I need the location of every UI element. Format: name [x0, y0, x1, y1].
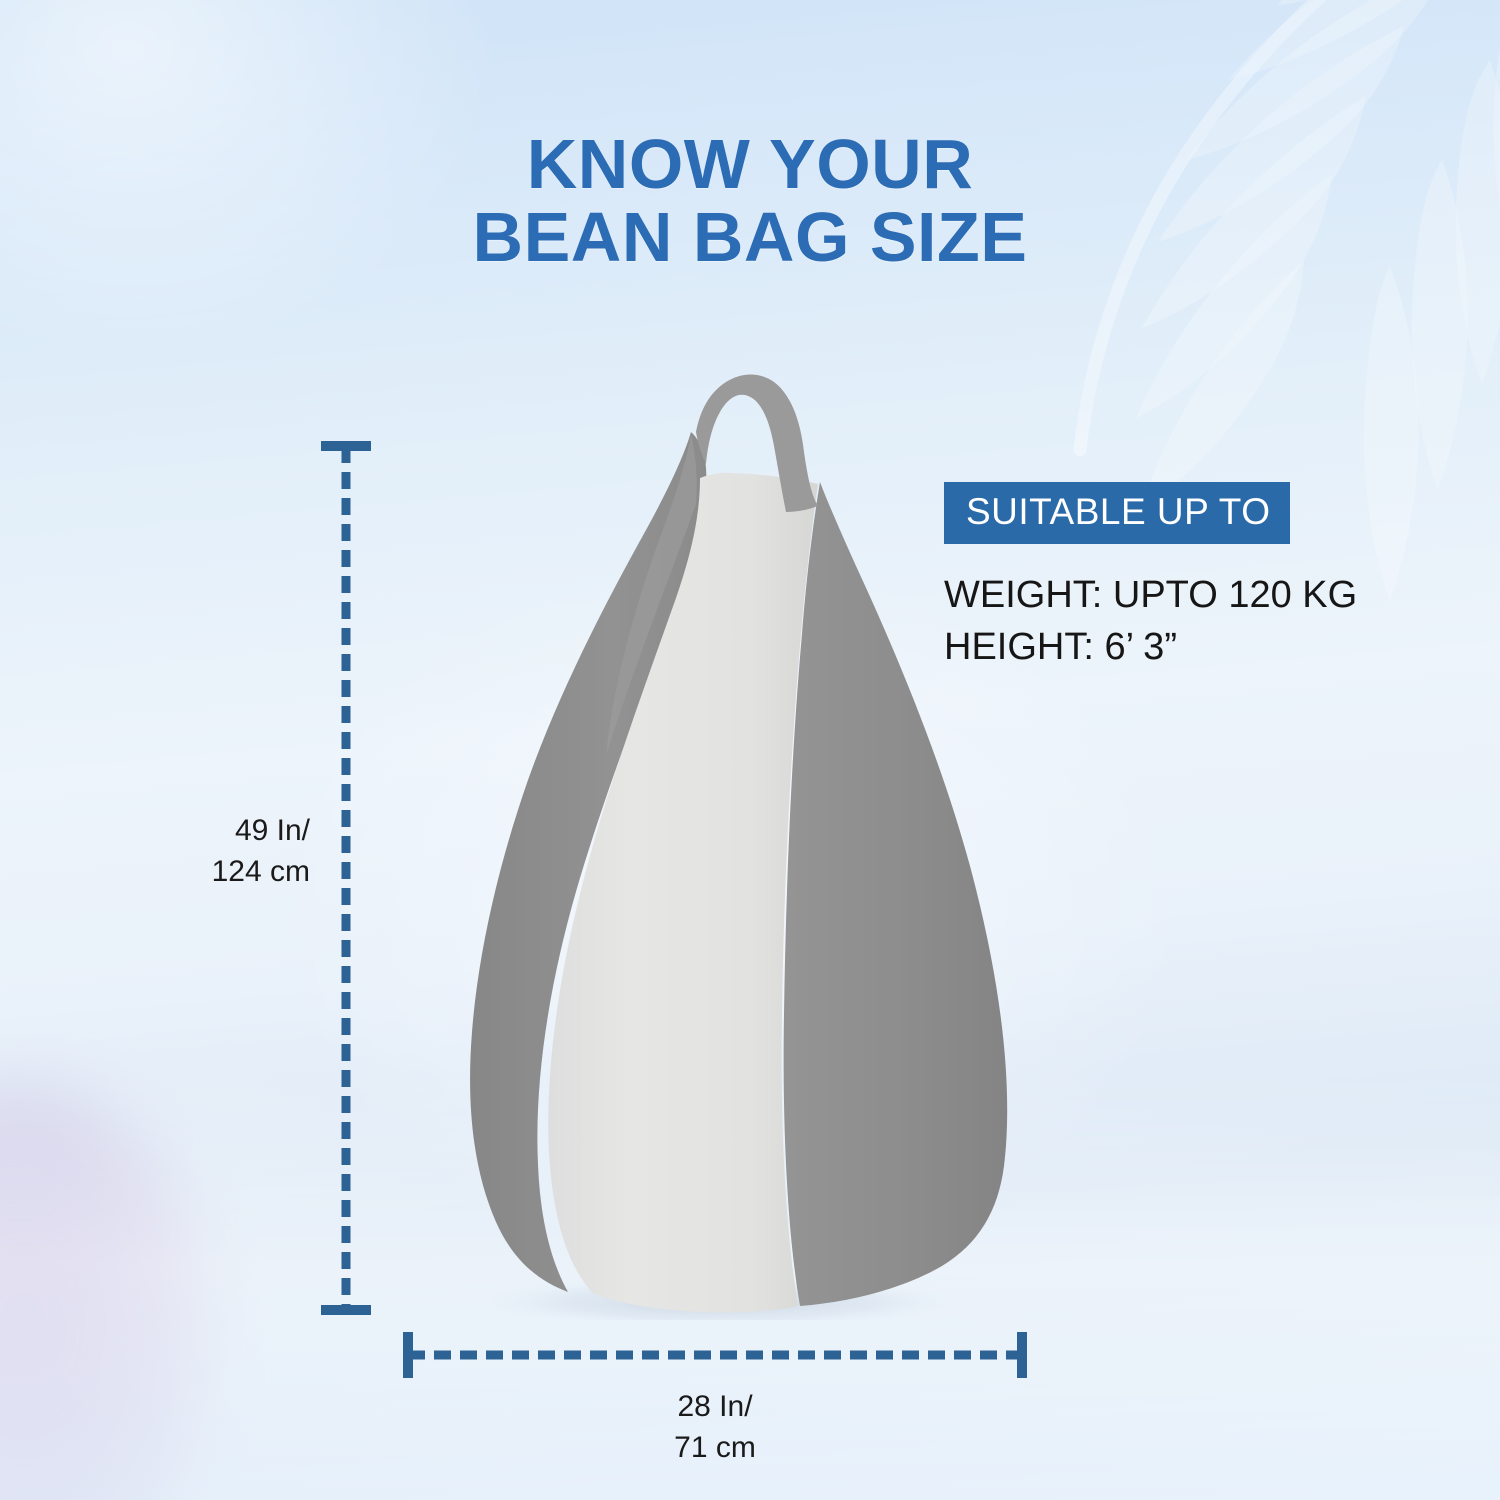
page-title-line-1: KNOW YOUR — [0, 128, 1500, 201]
spec-row-weight: WEIGHT: UPTO 120 KG — [944, 570, 1464, 622]
height-label-inches: 49 In/ — [150, 810, 310, 851]
beanbag-front-panel — [548, 473, 818, 1313]
spec-row-height: HEIGHT: 6’ 3” — [944, 622, 1464, 674]
height-dimension-label: 49 In/ 124 cm — [150, 810, 310, 893]
page-title-line-2: BEAN BAG SIZE — [0, 201, 1500, 274]
width-dimension-label: 28 In/ 71 cm — [515, 1386, 915, 1469]
width-label-cm: 71 cm — [515, 1427, 915, 1468]
page-title: KNOW YOUR BEAN BAG SIZE — [0, 128, 1500, 274]
infographic-canvas: KNOW YOUR BEAN BAG SIZE — [0, 0, 1500, 1500]
decorative-blob — [0, 1080, 215, 1500]
suitable-up-to-badge: SUITABLE UP TO — [944, 482, 1290, 544]
height-dimension-line — [318, 438, 374, 1318]
height-label-cm: 124 cm — [150, 851, 310, 892]
width-label-inches: 28 In/ — [515, 1386, 915, 1427]
spec-panel: SUITABLE UP TO WEIGHT: UPTO 120 KG HEIGH… — [944, 482, 1464, 673]
width-dimension-line — [400, 1330, 1030, 1380]
spec-list: WEIGHT: UPTO 120 KG HEIGHT: 6’ 3” — [944, 570, 1464, 673]
